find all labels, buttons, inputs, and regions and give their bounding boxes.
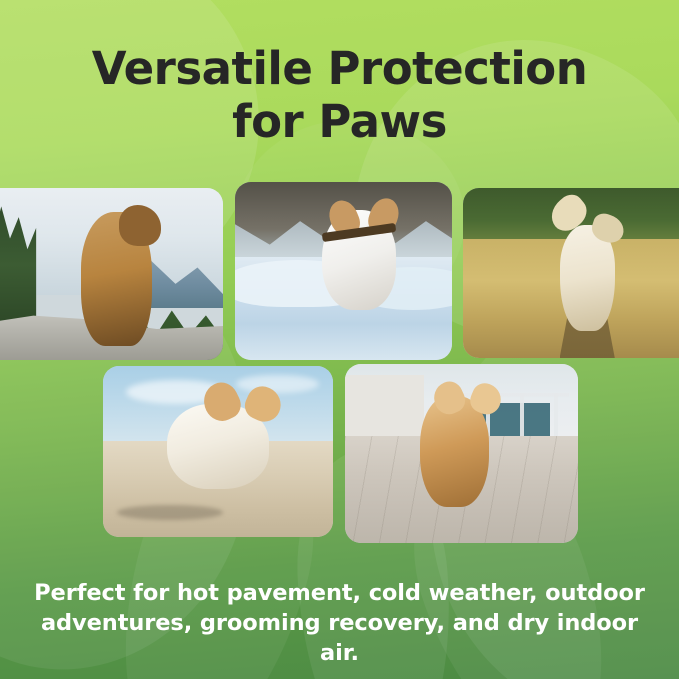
banner-subtitle: Perfect for hot pavement, cold weather, … — [18, 578, 661, 668]
photo-dog-mountain — [0, 188, 223, 360]
photo-dog-boardwalk — [345, 364, 578, 543]
product-feature-banner: Versatile Protection for Paws — [0, 0, 679, 679]
banner-headline: Versatile Protection for Paws — [0, 42, 679, 148]
photo-dog-field — [463, 188, 679, 358]
headline-line-1: Versatile Protection — [0, 42, 679, 95]
photo-dog-snow — [235, 182, 452, 360]
photo-dog-beach — [103, 366, 333, 537]
photo-dog-shadow — [117, 505, 223, 520]
subtitle-line-1: Perfect for hot pavement, cold weather, … — [18, 578, 661, 608]
subtitle-line-2: adventures, grooming recovery, and dry i… — [18, 608, 661, 668]
headline-line-2: for Paws — [0, 95, 679, 148]
